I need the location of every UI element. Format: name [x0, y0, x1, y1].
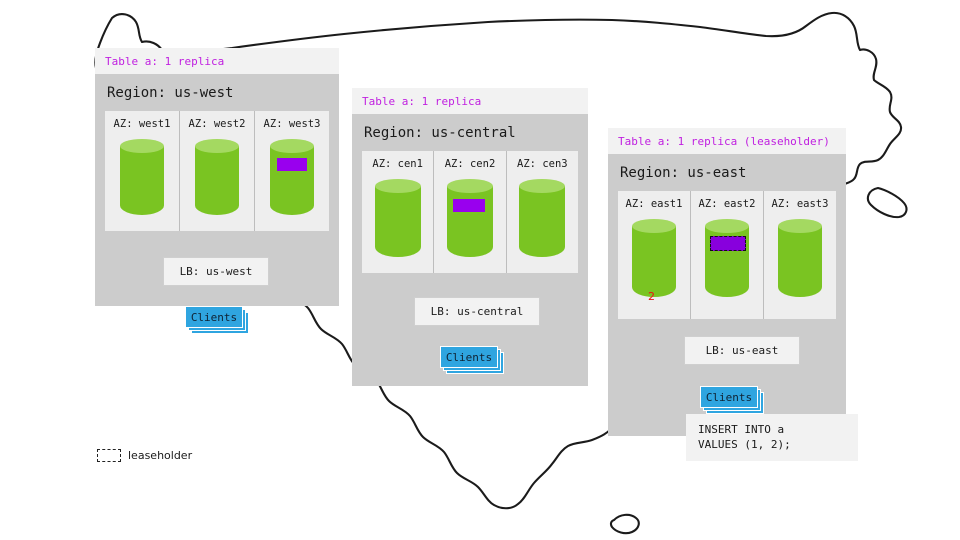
- clients-button-us-east[interactable]: Clients: [700, 386, 758, 408]
- clients-button-us-central[interactable]: Clients: [440, 346, 498, 368]
- cylinder-top: [632, 219, 676, 233]
- az-cen1[interactable]: AZ: cen1: [362, 151, 433, 273]
- cylinder-body: [632, 226, 676, 297]
- cylinder-body: [375, 186, 421, 257]
- clients-label: Clients: [185, 306, 243, 328]
- cylinder-body: [778, 226, 822, 297]
- cylinder-top: [705, 219, 749, 233]
- node-cylinder[interactable]: [375, 179, 421, 257]
- az-east3[interactable]: AZ: east3: [763, 191, 836, 319]
- az-label: AZ: cen2: [434, 158, 505, 170]
- az-label: AZ: west2: [180, 118, 254, 130]
- arrow-step-label: 2: [648, 290, 655, 303]
- az-row-us-central: AZ: cen1 AZ: cen2 AZ: cen3: [362, 151, 578, 273]
- node-cylinder[interactable]: [705, 219, 749, 297]
- legend-leaseholder: leaseholder: [97, 449, 192, 462]
- az-east2[interactable]: AZ: east2: [690, 191, 763, 319]
- legend-label: leaseholder: [128, 449, 192, 462]
- region-header-us-central: Table a: 1 replica: [352, 88, 588, 114]
- region-title-us-east: Region: us-east: [608, 154, 846, 191]
- node-cylinder[interactable]: [270, 139, 314, 215]
- cylinder-body: [195, 146, 239, 215]
- node-cylinder[interactable]: [778, 219, 822, 297]
- region-header-us-east: Table a: 1 replica (leaseholder): [608, 128, 846, 154]
- az-label: AZ: east1: [618, 198, 690, 210]
- cylinder-top: [120, 139, 164, 153]
- az-cen2[interactable]: AZ: cen2: [433, 151, 505, 273]
- cylinder-top: [375, 179, 421, 193]
- load-balancer-us-central[interactable]: LB: us-central: [414, 297, 540, 326]
- az-label: AZ: cen1: [362, 158, 433, 170]
- region-card-us-central: Table a: 1 replica Region: us-central AZ…: [352, 88, 588, 386]
- az-west3[interactable]: AZ: west3: [254, 111, 329, 231]
- region-card-us-east: Table a: 1 replica (leaseholder) Region:…: [608, 128, 846, 436]
- cylinder-body: [519, 186, 565, 257]
- load-balancer-us-west[interactable]: LB: us-west: [163, 257, 269, 286]
- node-cylinder[interactable]: [632, 219, 676, 297]
- region-title-us-central: Region: us-central: [352, 114, 588, 151]
- az-label: AZ: east3: [764, 198, 836, 210]
- leaseholder-swatch-icon: [97, 449, 121, 462]
- node-cylinder[interactable]: [120, 139, 164, 215]
- cylinder-top: [519, 179, 565, 193]
- az-label: AZ: west3: [255, 118, 329, 130]
- cylinder-top: [447, 179, 493, 193]
- cylinder-top: [270, 139, 314, 153]
- leaseholder-replica-block: [710, 236, 746, 251]
- az-label: AZ: cen3: [507, 158, 578, 170]
- cylinder-body: [120, 146, 164, 215]
- replica-block: [453, 199, 485, 212]
- node-cylinder[interactable]: [195, 139, 239, 215]
- cylinder-top: [195, 139, 239, 153]
- region-header-us-west: Table a: 1 replica: [95, 48, 339, 74]
- clients-label: Clients: [440, 346, 498, 368]
- replica-block: [277, 158, 307, 171]
- cylinder-body: [270, 146, 314, 215]
- az-west2[interactable]: AZ: west2: [179, 111, 254, 231]
- load-balancer-us-east[interactable]: LB: us-east: [684, 336, 800, 365]
- sql-statement-note: INSERT INTO a VALUES (1, 2);: [686, 414, 858, 461]
- node-cylinder[interactable]: [519, 179, 565, 257]
- region-card-us-west: Table a: 1 replica Region: us-west AZ: w…: [95, 48, 339, 306]
- region-title-us-west: Region: us-west: [95, 74, 339, 111]
- cylinder-top: [778, 219, 822, 233]
- cylinder-body: [447, 186, 493, 257]
- az-label: AZ: east2: [691, 198, 763, 210]
- node-cylinder[interactable]: [447, 179, 493, 257]
- clients-label: Clients: [700, 386, 758, 408]
- az-cen3[interactable]: AZ: cen3: [506, 151, 578, 273]
- az-row-us-west: AZ: west1 AZ: west2 AZ: west3: [105, 111, 329, 231]
- clients-button-us-west[interactable]: Clients: [185, 306, 243, 328]
- az-west1[interactable]: AZ: west1: [105, 111, 179, 231]
- az-label: AZ: west1: [105, 118, 179, 130]
